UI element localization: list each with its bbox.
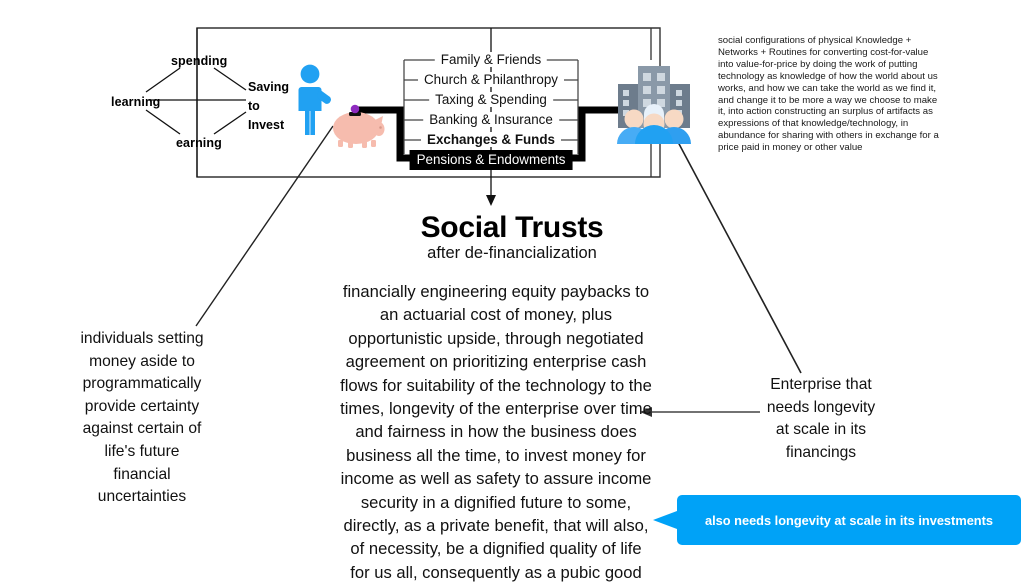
left-annotation: individuals setting money aside to progr… bbox=[78, 328, 206, 509]
institution-item-exchanges-funds[interactable]: Exchanges & Funds bbox=[421, 132, 561, 147]
spine-arrowhead bbox=[486, 195, 496, 206]
diamond-cluster-lines bbox=[146, 28, 246, 177]
institution-item-taxing-spending[interactable]: Taxing & Spending bbox=[429, 92, 553, 107]
institution-item-family-friends[interactable]: Family & Friends bbox=[435, 52, 547, 67]
right-annotation-arrow bbox=[640, 407, 760, 417]
page-title: Social Trusts bbox=[0, 211, 1024, 245]
page-subtitle: after de-financialization bbox=[0, 244, 1024, 263]
institution-item-pensions-endowments[interactable]: Pensions & Endowments bbox=[410, 150, 573, 170]
diamond-label-spending: spending bbox=[171, 52, 227, 70]
diagram-canvas: spending learning earning Saving to Inve… bbox=[0, 0, 1024, 576]
institution-item-banking-insurance[interactable]: Banking & Insurance bbox=[423, 112, 559, 127]
right-annotation: Enterprise that needs longevity at scale… bbox=[759, 374, 883, 464]
technology-description-note: social configurations of physical Knowle… bbox=[718, 35, 942, 154]
diamond-label-earning: earning bbox=[176, 134, 222, 152]
callout-tail bbox=[653, 511, 677, 529]
center-paragraph: financially engineering equity paybacks … bbox=[340, 280, 652, 584]
diamond-label-learning: learning bbox=[111, 93, 160, 111]
institution-item-church-philanthropy[interactable]: Church & Philanthropy bbox=[418, 72, 564, 87]
piggy-bank-icon bbox=[329, 104, 385, 150]
diamond-label-saving-to-invest: Saving to Invest bbox=[248, 78, 289, 135]
investments-callout[interactable]: also needs longevity at scale in its inv… bbox=[677, 495, 1021, 545]
investments-callout-label: also needs longevity at scale in its inv… bbox=[705, 513, 993, 528]
office-building-icon bbox=[612, 56, 696, 144]
